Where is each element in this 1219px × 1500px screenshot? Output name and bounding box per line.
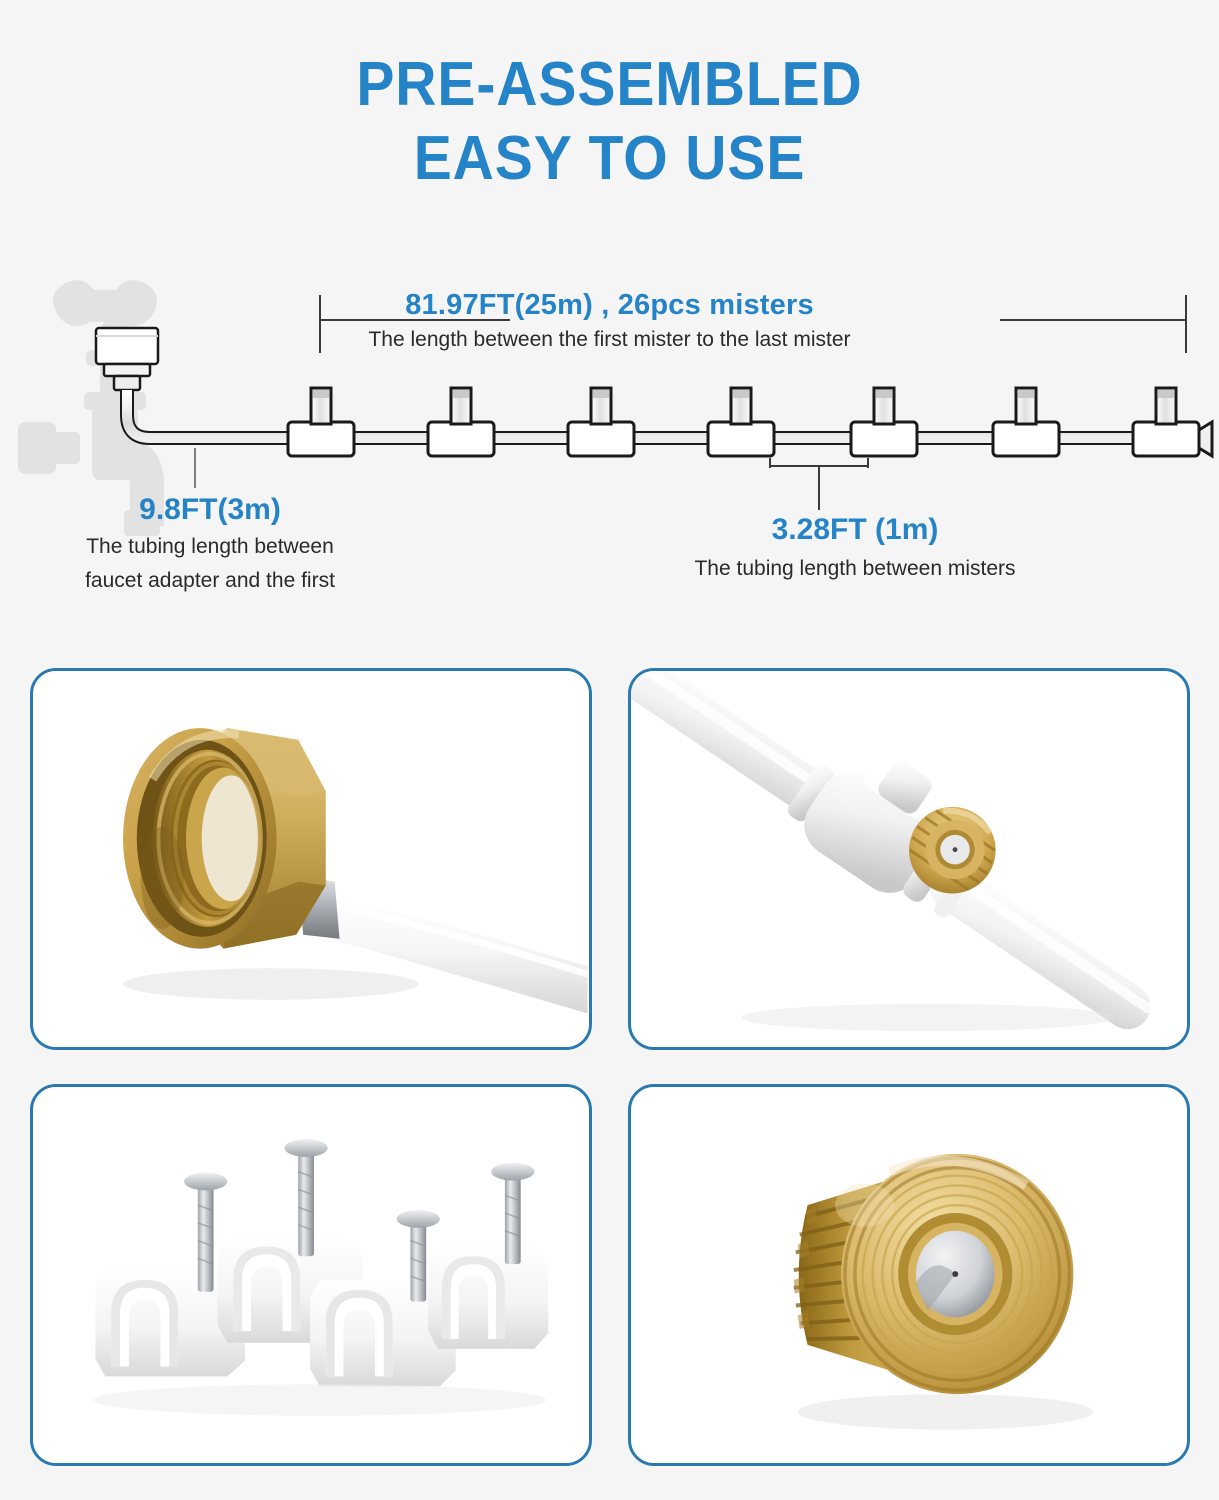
- mister-tee: [428, 388, 494, 456]
- callout-between-misters: 3.28FT (1m) The tubing length between mi…: [640, 512, 1070, 584]
- callout-between-misters-value: 3.28FT (1m): [640, 512, 1070, 548]
- mister-tee: [1133, 388, 1199, 456]
- callout-total-length-value: 81.97FT(25m) , 26pcs misters: [0, 288, 1219, 322]
- page-title-line-2: EASY TO USE: [49, 122, 1170, 196]
- page-title-line-1: PRE-ASSEMBLED: [49, 48, 1170, 122]
- inline-mister-tee-photo: [628, 668, 1190, 1050]
- callout-faucet-to-first-desc-line-1: The tubing length between: [20, 532, 400, 562]
- mister-tee: [288, 388, 354, 456]
- mister-tee: [708, 388, 774, 456]
- brass-faucet-adapter-photo: [30, 668, 592, 1050]
- mister-tee: [851, 388, 917, 456]
- cable-clips-photo: [30, 1084, 592, 1466]
- product-photo-grid: [30, 668, 1190, 1468]
- brass-nozzle-photo: [628, 1084, 1190, 1466]
- page-title: PRE-ASSEMBLED EASY TO USE: [49, 48, 1170, 196]
- callout-faucet-to-first-value: 9.8FT(3m): [20, 492, 400, 528]
- mister-tee: [993, 388, 1059, 456]
- mister-group: [288, 388, 1199, 456]
- callout-total-length: 81.97FT(25m) , 26pcs misters The length …: [0, 288, 1219, 355]
- callout-faucet-to-first: 9.8FT(3m) The tubing length between fauc…: [20, 492, 400, 596]
- callout-total-length-desc: The length between the first mister to t…: [0, 325, 1219, 355]
- infographic-page: PRE-ASSEMBLED EASY TO USE: [0, 0, 1219, 1500]
- callout-between-misters-desc: The tubing length between misters: [640, 554, 1070, 584]
- end-cap-icon: [1199, 422, 1212, 456]
- mister-tee: [568, 388, 634, 456]
- mister-spacing-bracket: [770, 458, 868, 510]
- callout-faucet-to-first-desc-line-2: faucet adapter and the first: [20, 566, 400, 596]
